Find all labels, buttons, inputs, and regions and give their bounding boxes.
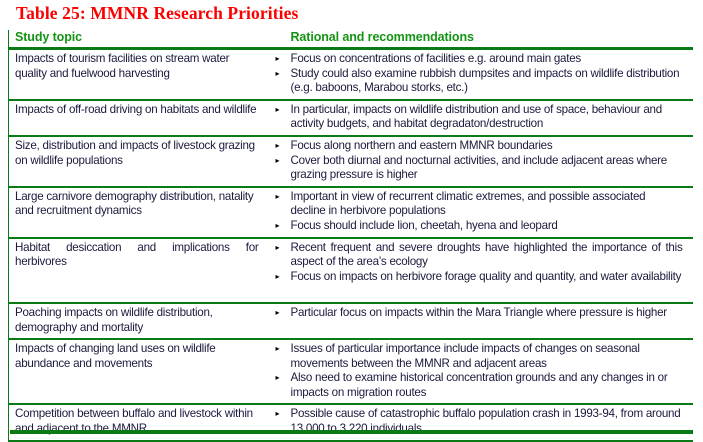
bullet-triangle-icon: ▸ <box>267 306 289 321</box>
bullet-triangle-icon: ▸ <box>267 52 289 67</box>
bullet-triangle-icon: ▸ <box>267 407 289 422</box>
bullet-line-spacer: ▸ <box>267 386 289 401</box>
bullet-marker-cell: ▸▸▸▸ <box>267 238 289 303</box>
rational-point-text: Focus should include lion, cheetah, hyen… <box>291 219 683 234</box>
bullet-triangle-icon: ▸ <box>267 139 289 154</box>
table-body: Impacts of tourism facilities on stream … <box>9 49 693 441</box>
bullet-marker-cell: ▸▸▸ <box>267 187 289 238</box>
table-row: Competition between buffalo and livestoc… <box>9 404 693 440</box>
table-row: Poaching impacts on wildlife distributio… <box>9 303 693 339</box>
rational-point-text: Issues of particular importance include … <box>291 342 683 371</box>
bullet-triangle-icon: ▸ <box>267 219 289 234</box>
study-topic-text: Poaching impacts on wildlife distributio… <box>15 306 213 334</box>
bullet-triangle-icon: ▸ <box>267 190 289 205</box>
bullet-marker-cell: ▸▸▸ <box>267 136 289 187</box>
bullet-line-spacer: ▸ <box>267 81 289 96</box>
study-topic-cell: Impacts of tourism facilities on stream … <box>9 49 267 100</box>
bullet-triangle-icon: ▸ <box>267 342 289 357</box>
table-row: Impacts of changing land uses on wildlif… <box>9 339 693 404</box>
rational-point-text: Focus on concentrations of facilities e.… <box>291 52 683 67</box>
rational-point-text: Cover both diurnal and nocturnal activit… <box>291 154 683 183</box>
study-topic-cell: Impacts of changing land uses on wildlif… <box>9 339 267 404</box>
bullet-triangle-icon: ▸ <box>267 103 289 118</box>
bullet-line-spacer: ▸ <box>267 117 289 132</box>
study-topic-text: Impacts of changing land uses on wildlif… <box>15 342 216 370</box>
bullet-marker-cell: ▸▸ <box>267 100 289 136</box>
column-header-study-topic: Study topic <box>9 30 267 49</box>
rational-cell: Issues of particular importance include … <box>289 339 693 404</box>
rational-point-text: Particular focus on impacts within the M… <box>291 306 683 321</box>
rational-cell: Focus on concentrations of facilities e.… <box>289 49 693 100</box>
table-row: Size, distribution and impacts of livest… <box>9 136 693 187</box>
study-topic-text: Impacts of tourism facilities on stream … <box>15 52 229 80</box>
bullet-triangle-icon: ▸ <box>267 270 289 285</box>
rational-point-text: Study could also examine rubbish dumpsit… <box>291 67 683 96</box>
table-row: Large carnivore demography distribution,… <box>9 187 693 238</box>
table-header: Study topic Rational and recommendations <box>9 30 693 49</box>
study-topic-cell: Poaching impacts on wildlife distributio… <box>9 303 267 339</box>
rational-point-text: Recent frequent and severe droughts have… <box>291 241 683 270</box>
bullet-marker-cell: ▸▸ <box>267 303 289 339</box>
bullet-marker-cell: ▸▸ <box>267 404 289 440</box>
rational-point-text: Focus along northern and eastern MMNR bo… <box>291 139 683 154</box>
column-header-rational: Rational and recommendations <box>289 30 693 49</box>
rational-point-text: In particular, impacts on wildlife distr… <box>291 103 683 132</box>
table-header-row: Study topic Rational and recommendations <box>9 30 693 49</box>
bullet-line-spacer: ▸ <box>267 168 289 183</box>
study-topic-cell: Size, distribution and impacts of livest… <box>9 136 267 187</box>
rational-cell: Possible cause of catastrophic buffalo p… <box>289 404 693 440</box>
rational-point-text: Also need to examine historical concentr… <box>291 371 683 400</box>
research-priorities-table: Study topic Rational and recommendations… <box>8 30 693 442</box>
bullet-triangle-icon: ▸ <box>267 154 289 169</box>
bullet-line-spacer: ▸ <box>267 321 289 336</box>
study-topic-text: Size, distribution and impacts of livest… <box>15 139 255 167</box>
rational-point-text: Focus on impacts on herbivore forage qua… <box>291 270 683 285</box>
rational-cell: Important in view of recurrent climatic … <box>289 187 693 238</box>
bullet-line-spacer: ▸ <box>267 204 289 219</box>
study-topic-text: Impacts of off-road driving on habitats … <box>15 103 256 116</box>
bullet-marker-cell: ▸▸▸▸ <box>267 339 289 404</box>
bullet-triangle-icon: ▸ <box>267 371 289 386</box>
bullet-triangle-icon: ▸ <box>267 241 289 256</box>
table-row: Impacts of tourism facilities on stream … <box>9 49 693 100</box>
research-priorities-table-wrapper: Study topic Rational and recommendations… <box>8 30 692 442</box>
bullet-line-spacer: ▸ <box>267 357 289 372</box>
study-topic-text: Habitat desiccation and implications for… <box>15 241 259 269</box>
bullet-triangle-icon: ▸ <box>267 67 289 82</box>
study-topic-cell: Impacts of off-road driving on habitats … <box>9 100 267 136</box>
study-topic-text: Large carnivore demography distribution,… <box>15 190 253 218</box>
rational-point-text: Important in view of recurrent climatic … <box>291 190 683 219</box>
table-row: Habitat desiccation and implications for… <box>9 238 693 303</box>
bullet-marker-cell: ▸▸▸ <box>267 49 289 100</box>
rational-cell: In particular, impacts on wildlife distr… <box>289 100 693 136</box>
study-topic-cell: Large carnivore demography distribution,… <box>9 187 267 238</box>
document-page: Table 25: MMNR Research Priorities Study… <box>0 0 703 442</box>
column-header-bullet-spacer <box>267 30 289 49</box>
rational-cell: Focus along northern and eastern MMNR bo… <box>289 136 693 187</box>
study-topic-cell: Competition between buffalo and livestoc… <box>9 404 267 440</box>
study-topic-cell: Habitat desiccation and implications for… <box>9 238 267 303</box>
table-row: Impacts of off-road driving on habitats … <box>9 100 693 136</box>
rational-cell: Particular focus on impacts within the M… <box>289 303 693 339</box>
rational-cell: Recent frequent and severe droughts have… <box>289 238 693 303</box>
page-title: Table 25: MMNR Research Priorities <box>16 3 298 24</box>
bullet-line-spacer: ▸ <box>267 284 289 299</box>
footer-divider <box>10 430 693 434</box>
bullet-line-spacer: ▸ <box>267 255 289 270</box>
